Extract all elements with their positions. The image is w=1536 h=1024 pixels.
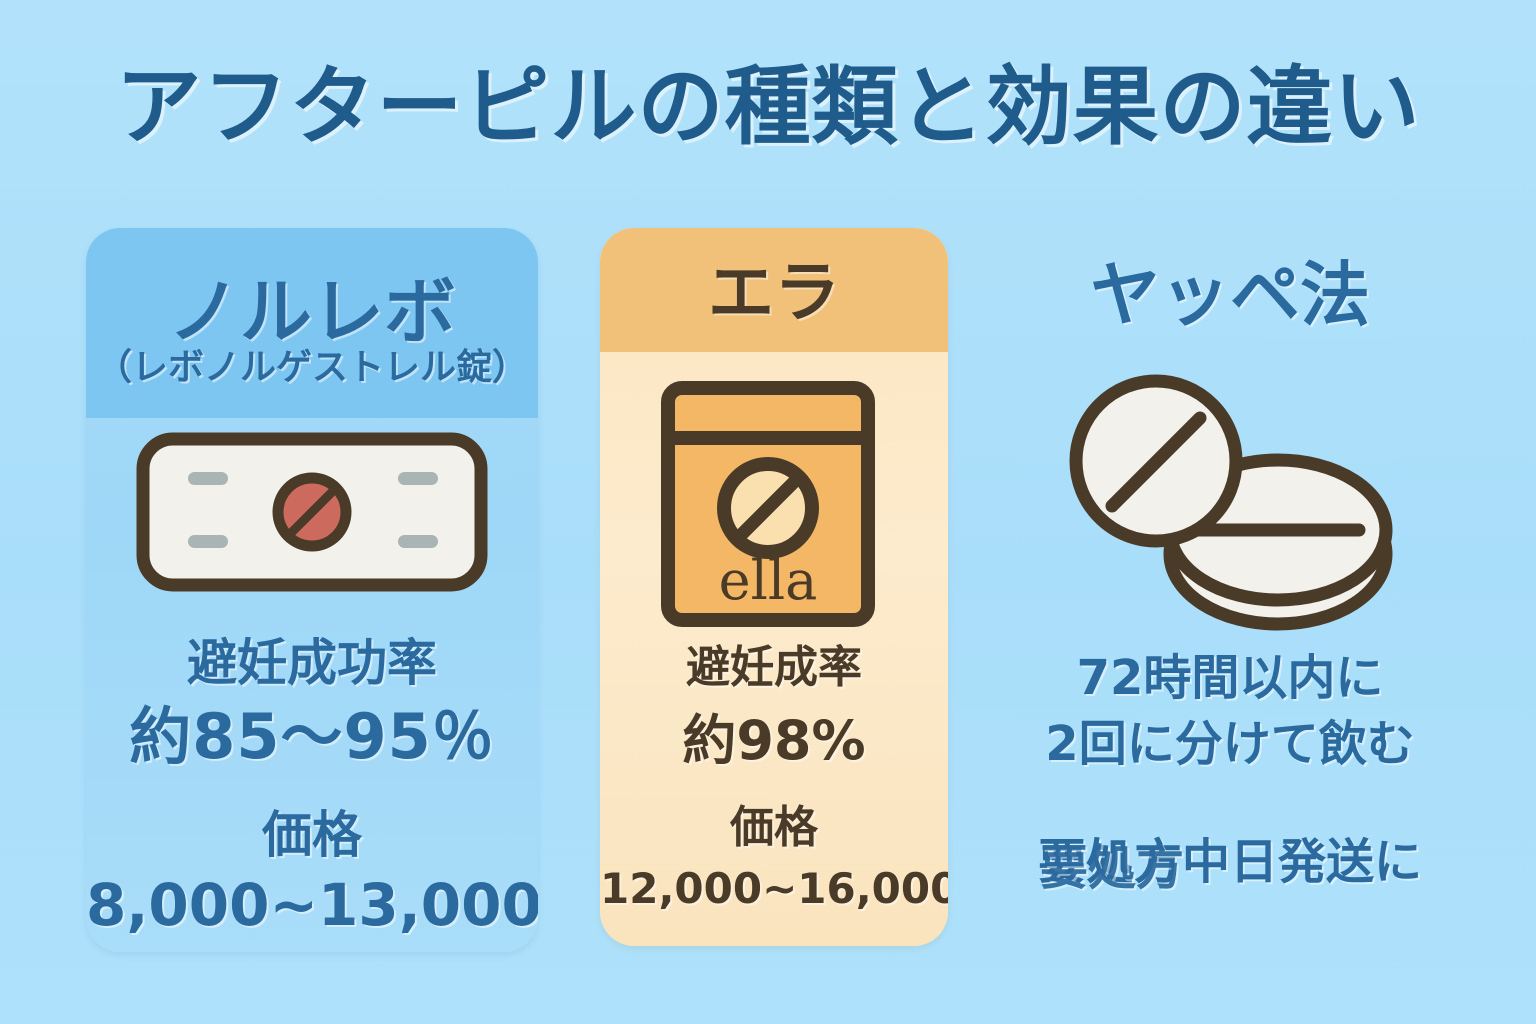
card-ella: エラ ella 避妊成率 約98% 価格 12,000~16,000円 [600,228,948,946]
norlevo-price-value: 8,000~13,000円 [86,876,538,934]
column-yuzpe-title: ヤッペ法 [1000,260,1460,330]
yuzpe-note-1: 72時間以内に [1000,654,1460,702]
ella-price-value: 12,000~16,000円 [600,868,948,910]
yuzpe-note-3-overlap: 要処方 [1040,844,1184,892]
norlevo-price-label: 価格 [86,810,538,860]
norlevo-rate-value: 約85〜95％ [86,706,538,768]
column-yuzpe: ヤッペ法 72時間以内に 2回に分けて飲む 要処方中日発送に 要処方 [1000,228,1460,952]
ella-rate-label: 避妊成率 [600,646,948,690]
yuzpe-note-2: 2回に分けて飲む [1000,720,1460,768]
card-norlevo-subtitle: （レボノルゲストレル錠） [86,350,538,386]
card-norlevo: ノルレボ （レボノルゲストレル錠） 避妊成功率 約85〜95％ 価格 8,000… [86,228,538,952]
page-title: アフターピルの種類と効果の違い [0,62,1536,152]
norlevo-rate-label: 避妊成功率 [86,638,538,688]
yuzpe-note-3-text: 要処方中日発送に 要処方 [1038,838,1422,886]
card-norlevo-title: ノルレボ [86,276,538,348]
ella-box-icon: ella [660,380,876,632]
ella-box-label: ella [719,549,818,612]
ella-rate-value: 約98% [600,714,948,768]
ella-price-label: 価格 [600,806,948,850]
blister-pack-icon [136,432,488,596]
two-tablets-icon [1050,368,1400,636]
card-ella-title: エラ [600,260,948,326]
infographic-canvas: アフターピルの種類と効果の違い ノルレボ （レボノルゲストレル錠） 避妊成功率 … [0,0,1536,1024]
yuzpe-note-3: 要処方中日発送に 要処方 [1000,838,1460,886]
